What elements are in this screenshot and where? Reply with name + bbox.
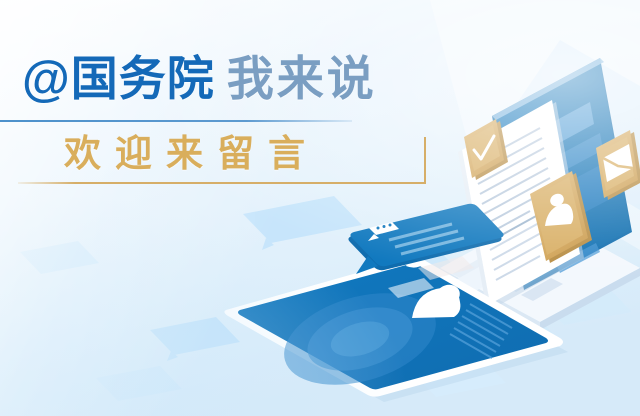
gold-bracket-vertical: [424, 137, 426, 184]
page-subtitle: 欢迎来留言: [64, 130, 319, 178]
title-block: @国务院我来说 欢迎来留言: [0, 0, 440, 200]
blue-divider-rule: [0, 120, 352, 122]
page-title: @国务院我来说: [22, 48, 377, 110]
title-sub-text: 我来说: [227, 52, 377, 105]
banner-root: @国务院我来说 欢迎来留言: [0, 0, 640, 416]
gold-bracket-horizontal: [18, 182, 426, 184]
title-main-text: 国务院: [71, 52, 215, 105]
at-symbol: @: [22, 52, 71, 106]
